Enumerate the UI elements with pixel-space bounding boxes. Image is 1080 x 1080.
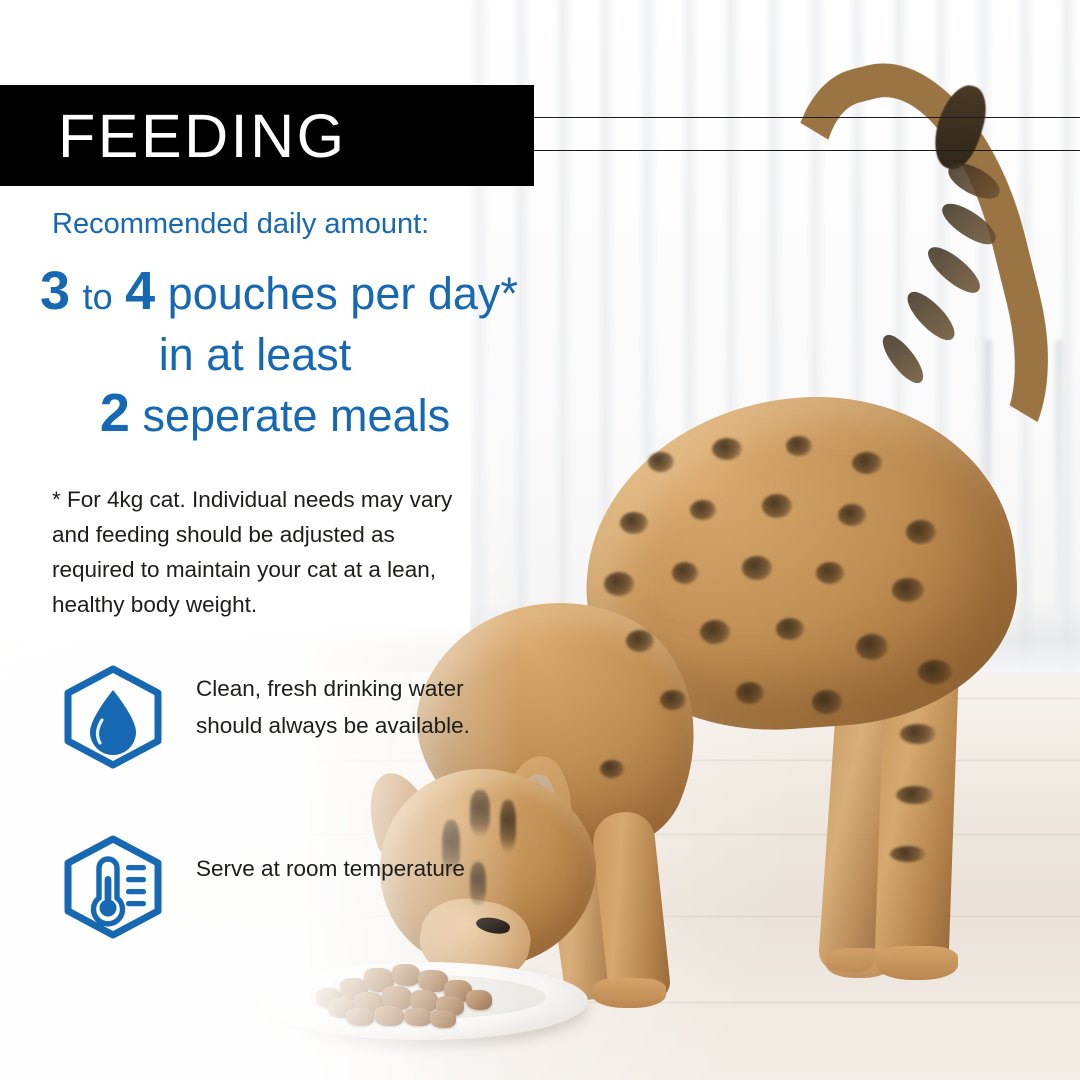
amount-to-word: to bbox=[83, 276, 113, 317]
meals-label: seperate meals bbox=[142, 390, 450, 441]
bullet-water-text: Clean, fresh drinking water should alway… bbox=[196, 670, 476, 744]
header-rule-top bbox=[534, 117, 1080, 118]
thermometer-icon bbox=[58, 832, 168, 942]
amount-max-value: 4 bbox=[125, 261, 155, 321]
daily-amount-block: 3 to 4 pouches per day* in at least 2 se… bbox=[40, 262, 640, 445]
amount-line-2: in at least bbox=[40, 326, 470, 384]
feeding-footnote: * For 4kg cat. Individual needs may vary… bbox=[52, 482, 472, 622]
amount-line-1: 3 to 4 pouches per day* bbox=[40, 262, 640, 326]
water-drop-icon bbox=[58, 662, 168, 772]
amount-line-3: 2 seperate meals bbox=[40, 384, 510, 445]
bullet-temperature-text: Serve at room temperature bbox=[196, 850, 476, 887]
amount-min-value: 3 bbox=[40, 261, 70, 321]
amount-unit-text: pouches per day* bbox=[168, 268, 518, 319]
page-title: FEEDING bbox=[58, 96, 347, 176]
text-overlay: FEEDING Recommended daily amount: 3 to 4… bbox=[0, 0, 1080, 1080]
recommended-amount-label: Recommended daily amount: bbox=[52, 208, 429, 241]
meals-count-value: 2 bbox=[100, 383, 130, 443]
header-rule-bottom bbox=[534, 150, 1080, 151]
